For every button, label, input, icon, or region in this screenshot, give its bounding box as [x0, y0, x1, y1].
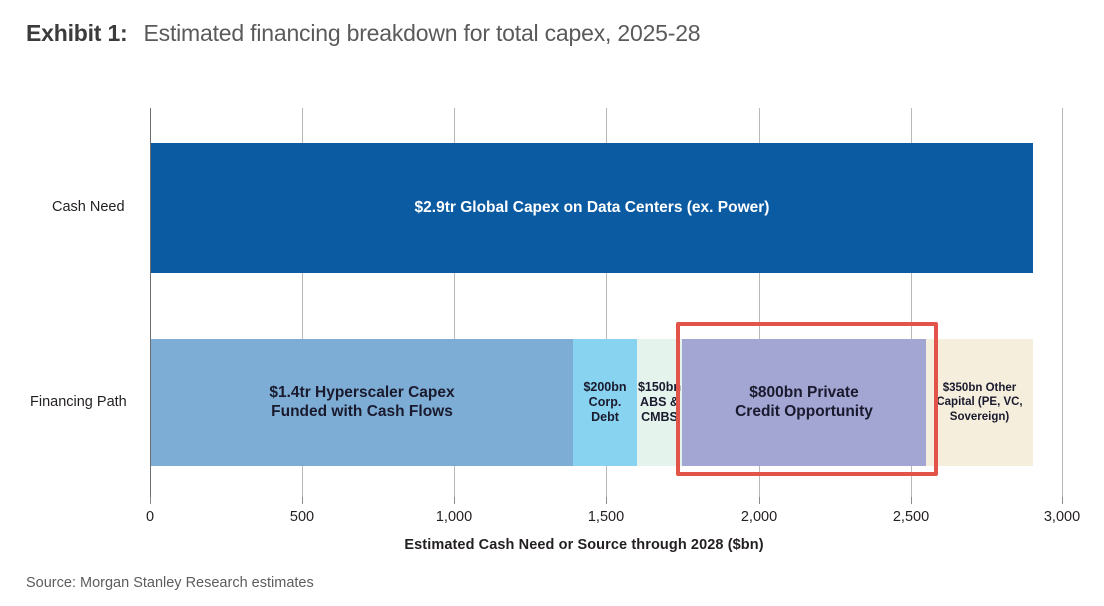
bar-segment-hyperscaler-capex-cash-flows[interactable]: $1.4tr Hyperscaler Capex Funded with Cas…: [151, 339, 573, 466]
bar-segment-abs-cmbs[interactable]: $150bn ABS & CMBS: [637, 339, 682, 466]
x-tick-mark-3000: [1062, 497, 1063, 504]
bar-segment-private-credit-opportunity[interactable]: $800bn Private Credit Opportunity: [682, 339, 926, 466]
x-tick-label-500: 500: [290, 509, 314, 525]
source-note: Source: Morgan Stanley Research estimate…: [26, 575, 314, 591]
x-tick-label-1000: 1,000: [436, 509, 472, 525]
x-tick-mark-0: [150, 497, 151, 504]
x-axis-title-wrap: Estimated Cash Need or Source through 20…: [0, 537, 1104, 553]
x-tick-label-2500: 2,500: [893, 509, 929, 525]
gridline-3000: [1062, 108, 1063, 497]
chart-figure: Cash Need Financing Path $2.9tr Global C…: [0, 0, 1104, 606]
bar-segment-global-capex-data-centers[interactable]: $2.9tr Global Capex on Data Centers (ex.…: [151, 143, 1033, 273]
x-axis-title: Estimated Cash Need or Source through 20…: [404, 537, 763, 553]
bar-row-financing-path: $1.4tr Hyperscaler Capex Funded with Cas…: [151, 339, 1033, 466]
bar-segment-other-capital[interactable]: $350bn Other Capital (PE, VC, Sovereign): [926, 339, 1033, 466]
bar-segment-corp-debt[interactable]: $200bn Corp. Debt: [573, 339, 637, 466]
bar-segment-label: $1.4tr Hyperscaler Capex Funded with Cas…: [269, 384, 454, 422]
x-tick-mark-1500: [606, 497, 607, 504]
bar-row-cash-need: $2.9tr Global Capex on Data Centers (ex.…: [151, 143, 1033, 273]
bar-segment-label: $800bn Private Credit Opportunity: [735, 384, 873, 422]
x-tick-label-0: 0: [146, 509, 154, 525]
x-tick-mark-2000: [759, 497, 760, 504]
category-label-financing-path: Financing Path: [30, 394, 127, 410]
x-tick-label-2000: 2,000: [741, 509, 777, 525]
x-tick-label-3000: 3,000: [1044, 509, 1080, 525]
x-tick-mark-500: [302, 497, 303, 504]
category-label-cash-need: Cash Need: [52, 199, 125, 215]
bar-segment-label: $200bn Corp. Debt: [583, 380, 626, 426]
bar-segment-label: $150bn ABS & CMBS: [637, 380, 682, 426]
x-tick-label-1500: 1,500: [588, 509, 624, 525]
bar-segment-label: $350bn Other Capital (PE, VC, Sovereign): [936, 381, 1022, 423]
bar-segment-label: $2.9tr Global Capex on Data Centers (ex.…: [415, 199, 770, 218]
x-tick-mark-2500: [911, 497, 912, 504]
x-tick-mark-1000: [454, 497, 455, 504]
